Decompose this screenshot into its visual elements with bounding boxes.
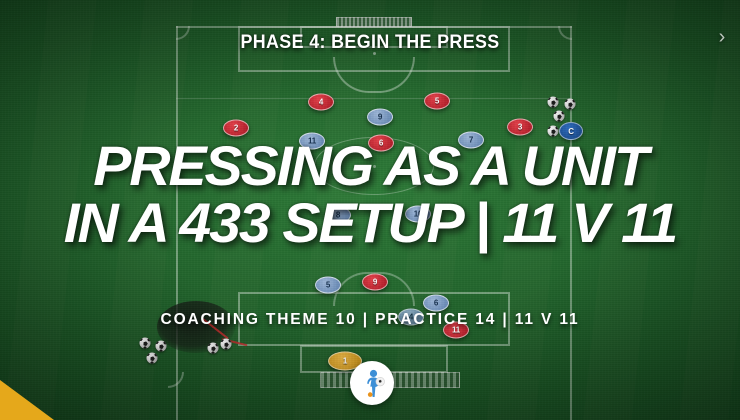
- slide-title-line-1: PRESSING AS A UNIT: [0, 139, 740, 194]
- ball-icon: [548, 97, 559, 108]
- slide-title-line-2: IN A 433 SETUP | 11 V 11: [0, 196, 740, 251]
- corner-arc-bottom-left: [168, 372, 184, 388]
- pitch-goal-line-top: [176, 26, 572, 28]
- next-slide-button[interactable]: ›: [711, 22, 733, 52]
- ball-icon: [147, 353, 158, 364]
- phase-label: PHASE 4: BEGIN THE PRESS: [22, 32, 718, 54]
- player-figure-logo-icon: [355, 366, 389, 400]
- player-token-blue[interactable]: 5: [315, 277, 341, 294]
- chevron-right-icon: ›: [719, 27, 726, 47]
- player-token-red[interactable]: 3: [507, 119, 533, 136]
- corner-accent: [0, 380, 54, 420]
- ball-icon: [208, 343, 219, 354]
- player-token-blue[interactable]: 9: [367, 109, 393, 126]
- player-token-red[interactable]: 9: [362, 274, 388, 291]
- ball-icon: [221, 339, 232, 350]
- ball-icon: [156, 341, 167, 352]
- ball-icon: [554, 111, 565, 122]
- player-token-red[interactable]: 5: [424, 93, 450, 110]
- app-logo: [350, 361, 394, 405]
- slide-subtitle: COACHING THEME 10 | PRACTICE 14 | 11 V 1…: [11, 311, 729, 329]
- player-token-red[interactable]: 4: [308, 94, 334, 111]
- pitch-halfway-line: [176, 98, 572, 99]
- goal-top: [336, 17, 412, 27]
- ball-icon: [140, 338, 151, 349]
- penalty-arc-top: [333, 57, 415, 93]
- ball-icon: [565, 99, 576, 110]
- player-token-blue[interactable]: 6: [423, 295, 449, 312]
- presentation-slide: 2 4 6 5 3 9 11 9 11 7 8 10 5 6 4 1 C PHA…: [0, 0, 740, 420]
- slide-title: PRESSING AS A UNIT IN A 433 SETUP | 11 V…: [0, 139, 740, 251]
